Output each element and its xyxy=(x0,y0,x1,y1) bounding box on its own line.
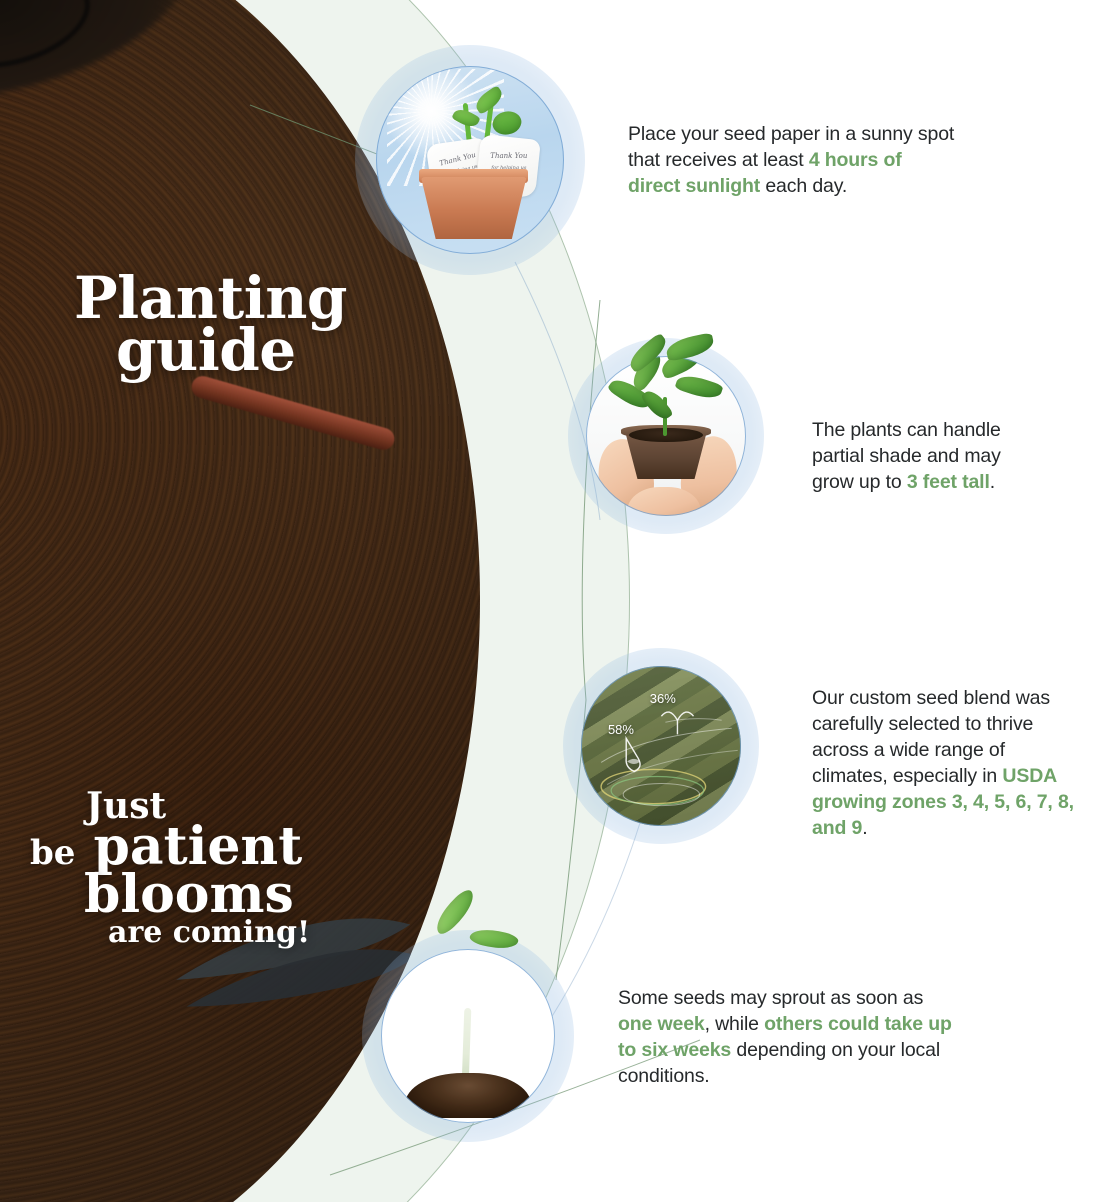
bubble-ring xyxy=(586,356,747,517)
overlay-word-be: be xyxy=(30,833,75,873)
overlay-line-blooms: blooms xyxy=(84,871,360,919)
step-text-sunlight: Place your seed paper in a sunny spot th… xyxy=(628,122,958,200)
step-image-shade[interactable] xyxy=(568,338,764,534)
text-part-emphasis: one week xyxy=(618,1013,705,1035)
text-part: Place your seed paper in a sunny spot th… xyxy=(628,123,954,171)
overlay-line-are-coming: are coming! xyxy=(108,919,360,947)
step-image-sunlight[interactable]: Thank You for helping us Thank You for h… xyxy=(355,45,585,275)
step-image-climate[interactable]: 36% 58% xyxy=(563,648,759,844)
bubble-ring xyxy=(381,949,555,1123)
hero-overlay-message: Just be patient blooms are coming! xyxy=(30,790,360,946)
text-part: . xyxy=(990,471,995,493)
bubble-ring xyxy=(581,666,742,827)
text-part: , while xyxy=(705,1013,765,1035)
step-text-germination: Some seeds may sprout as soon as one wee… xyxy=(618,986,956,1090)
infographic-canvas: Planting guide Just be patient blooms ar… xyxy=(0,0,1100,1202)
step-text-shade: The plants can handle partial shade and … xyxy=(812,418,1034,496)
text-part: Some seeds may sprout as soon as xyxy=(618,987,923,1009)
page-title-line2: guide xyxy=(116,324,404,376)
step-text-climate: Our custom seed blend was carefully sele… xyxy=(812,686,1080,842)
step-image-germination[interactable] xyxy=(362,930,574,1142)
bubble-ring xyxy=(376,66,565,255)
text-part: . xyxy=(862,817,867,839)
text-part: each day. xyxy=(760,175,847,197)
text-part-emphasis: 3 feet tall xyxy=(907,471,990,493)
page-title: Planting guide xyxy=(74,272,404,376)
